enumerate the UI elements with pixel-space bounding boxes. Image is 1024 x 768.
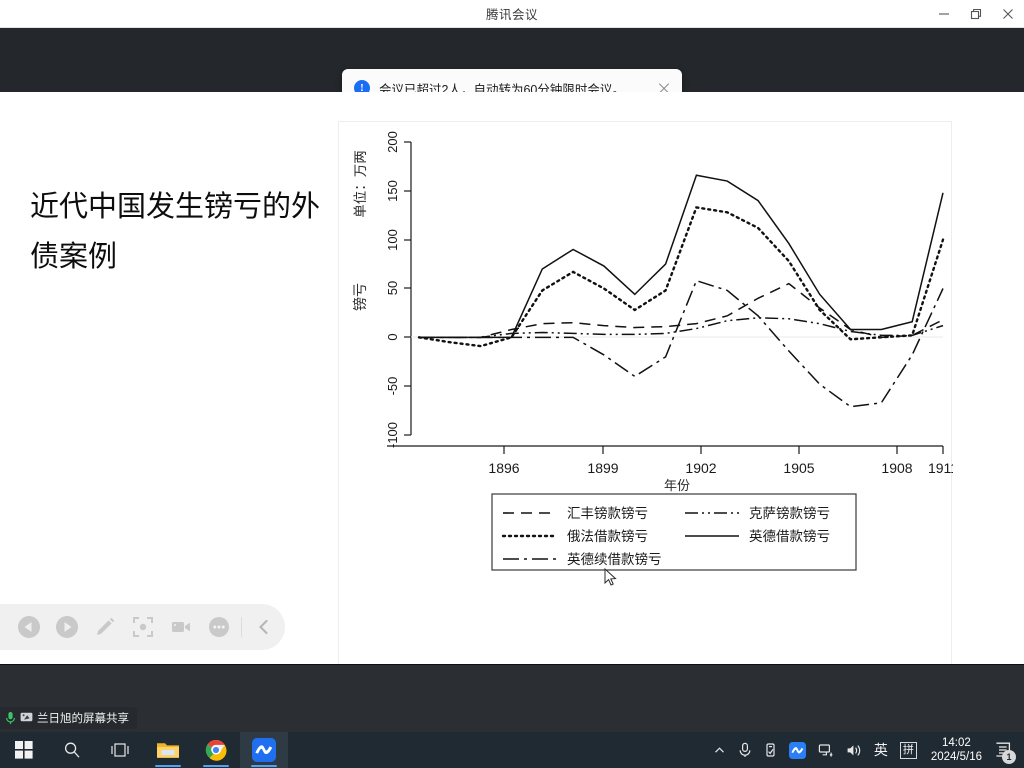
volume-tray-icon[interactable]	[840, 732, 868, 768]
screen-share-label: 兰日旭的屏幕共享	[37, 710, 129, 726]
chart-series-line	[419, 281, 943, 407]
legend-label: 英德借款镑亏	[749, 528, 830, 544]
x-tick-1902: 1902	[685, 460, 716, 476]
y-tick-0: 0	[385, 333, 400, 340]
meeting-header-bar: ! 会议已超过2人，自动转为60分钟限时会议。	[0, 28, 1024, 92]
chrome-button[interactable]	[192, 732, 240, 768]
y-tick-150: 150	[385, 180, 400, 202]
legend-label: 英德续借款镑亏	[567, 551, 662, 567]
taskbar-left-group	[0, 732, 288, 768]
y-axis-unit-label: 单位：万两	[353, 150, 368, 218]
window-title: 腾讯会议	[486, 4, 538, 23]
chart-legend-entries: 汇丰镑款镑亏克萨镑款镑亏俄法借款镑亏英德借款镑亏英德续借款镑亏	[503, 506, 830, 567]
x-tick-1896: 1896	[488, 460, 519, 476]
legend-label: 俄法借款镑亏	[567, 529, 648, 544]
pen-icon[interactable]	[86, 608, 124, 646]
mouse-cursor	[604, 568, 618, 588]
x-tick-1899: 1899	[587, 460, 618, 476]
restore-button[interactable]	[960, 0, 992, 28]
ime-mode-indicator[interactable]: 拼	[894, 732, 923, 768]
ime-mode-label: 拼	[900, 742, 917, 759]
start-button[interactable]	[0, 732, 48, 768]
tencent-meeting-button[interactable]	[240, 732, 288, 768]
screen-share-indicator: 兰日旭的屏幕共享	[0, 707, 137, 729]
tencent-meeting-tray-icon[interactable]	[783, 732, 812, 768]
file-explorer-button[interactable]	[144, 732, 192, 768]
y-tick-100: 100	[385, 229, 400, 251]
chart-image: 200 150 100 50 0 -50 -100 镑亏 单位：万两 1896 …	[338, 121, 952, 686]
x-tick-1908: 1908	[881, 460, 912, 476]
shared-screen-area: 近代中国发生镑亏的外债案例	[0, 92, 1024, 664]
prev-slide-button[interactable]	[10, 608, 48, 646]
search-button[interactable]	[48, 732, 96, 768]
mic-tray-icon[interactable]	[732, 732, 758, 768]
mic-icon	[5, 711, 16, 726]
slide-title: 近代中国发生镑亏的外债案例	[30, 182, 320, 282]
focus-frame-icon[interactable]	[124, 608, 162, 646]
pound-loss-line-chart: 200 150 100 50 0 -50 -100 镑亏 单位：万两 1896 …	[339, 122, 953, 687]
ime-language-label: 英	[874, 740, 888, 760]
legend-label: 汇丰镑款镑亏	[567, 506, 648, 521]
y-tick-200: 200	[385, 131, 400, 153]
clock-time: 14:02	[942, 736, 971, 750]
ime-language-indicator[interactable]: 英	[868, 732, 894, 768]
usb-tray-icon[interactable]	[758, 732, 783, 768]
y-tick-neg100: -100	[385, 422, 400, 448]
x-tick-1905: 1905	[783, 460, 814, 476]
presentation-toolbar	[0, 604, 285, 650]
ellipsis-icon[interactable]	[200, 608, 238, 646]
notification-badge: 1	[1002, 750, 1016, 764]
tencent-meeting-window: 腾讯会议 ! 会议已超过2人，自动转为60分钟限时会议。	[0, 0, 1024, 768]
network-tray-icon[interactable]	[812, 732, 840, 768]
minimize-button[interactable]	[928, 0, 960, 28]
window-controls	[928, 0, 1024, 28]
y-tick-50: 50	[385, 281, 400, 295]
meeting-bottom-strip: 兰日旭的屏幕共享	[0, 664, 1024, 732]
video-camera-icon[interactable]	[162, 608, 200, 646]
chart-series-line	[419, 175, 943, 337]
screen-share-icon	[20, 712, 33, 724]
toolbar-divider	[241, 617, 242, 637]
chart-series-layer	[419, 175, 943, 406]
close-button[interactable]	[992, 0, 1024, 28]
notification-center-button[interactable]: 1	[990, 732, 1020, 768]
chevron-left-icon[interactable]	[245, 608, 283, 646]
x-axis-label: 年份	[664, 478, 690, 493]
next-slide-button[interactable]	[48, 608, 86, 646]
taskbar-tray: 英 拼 14:02 2024/5/16 1	[707, 732, 1024, 768]
clock-date: 2024/5/16	[931, 750, 982, 764]
window-title-bar: 腾讯会议	[0, 0, 1024, 28]
legend-label: 克萨镑款镑亏	[749, 506, 830, 521]
y-axis-label: 镑亏	[352, 283, 368, 311]
task-view-button[interactable]	[96, 732, 144, 768]
chevron-up-icon[interactable]	[707, 732, 732, 768]
x-tick-1911: 1911	[928, 460, 953, 476]
taskbar-clock[interactable]: 14:02 2024/5/16	[923, 732, 990, 768]
windows-taskbar: 英 拼 14:02 2024/5/16 1	[0, 732, 1024, 768]
chart-series-line	[419, 207, 943, 346]
y-tick-neg50: -50	[385, 377, 400, 396]
